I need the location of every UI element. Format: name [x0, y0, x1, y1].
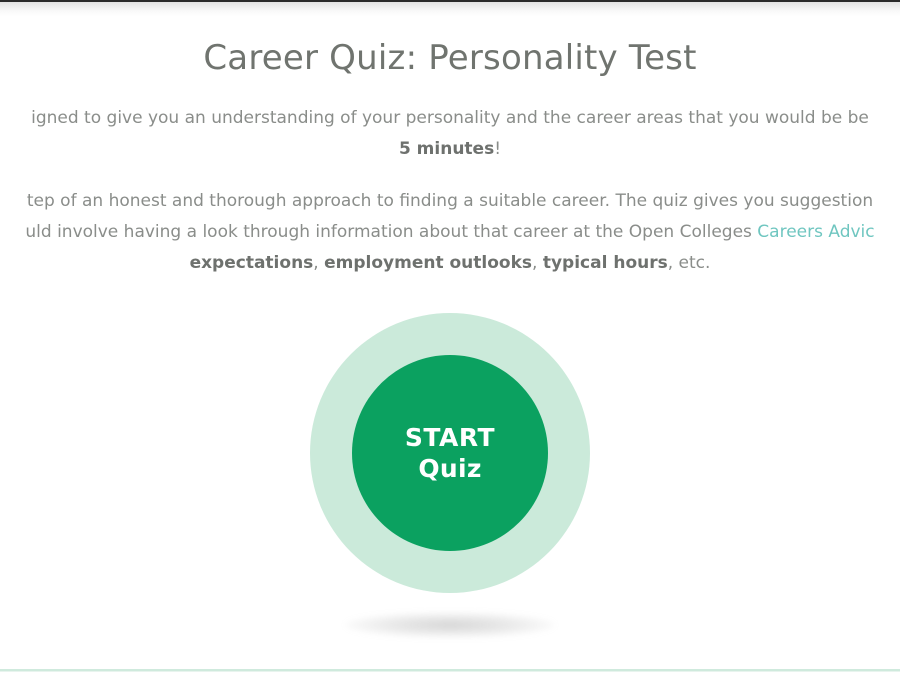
bottom-divider-soft [0, 671, 900, 672]
start-quiz-button[interactable]: START Quiz [352, 355, 548, 551]
intro-bold-employment-outlooks: employment outlooks [324, 253, 532, 273]
intro-separator-2: , [532, 253, 543, 273]
start-quiz-label-primary: START [405, 422, 495, 453]
start-quiz-region: START Quiz [0, 0, 900, 675]
page-content: Career Quiz: Personality Test igned to g… [0, 0, 900, 675]
top-gradient-shade [0, 2, 900, 16]
intro-bold-expectations: expectations [190, 253, 314, 273]
intro-bold-typical-hours: typical hours [543, 253, 668, 273]
top-divider [0, 0, 900, 2]
intro-paragraph-1: igned to give you an understanding of yo… [0, 103, 900, 165]
intro-paragraph-2-line-1: tep of an honest and thorough approach t… [27, 191, 873, 211]
intro-paragraph-1-lead: igned to give you an understanding of yo… [31, 108, 869, 128]
intro-duration-emphasis: 5 minutes [399, 139, 494, 159]
intro-paragraph-2: tep of an honest and thorough approach t… [0, 186, 900, 279]
careers-advice-link[interactable]: Careers Advic [757, 222, 874, 242]
intro-paragraph-1-tail: ! [494, 139, 501, 159]
intro-separator-1: , [313, 253, 324, 273]
intro-paragraph-2-line-2: uld involve having a look through inform… [25, 222, 757, 242]
start-quiz-label-secondary: Quiz [418, 453, 481, 484]
intro-paragraph-2-tail: , etc. [668, 253, 711, 273]
start-quiz-outer-ring[interactable]: START Quiz [310, 313, 590, 593]
start-quiz-drop-shadow [345, 612, 555, 638]
